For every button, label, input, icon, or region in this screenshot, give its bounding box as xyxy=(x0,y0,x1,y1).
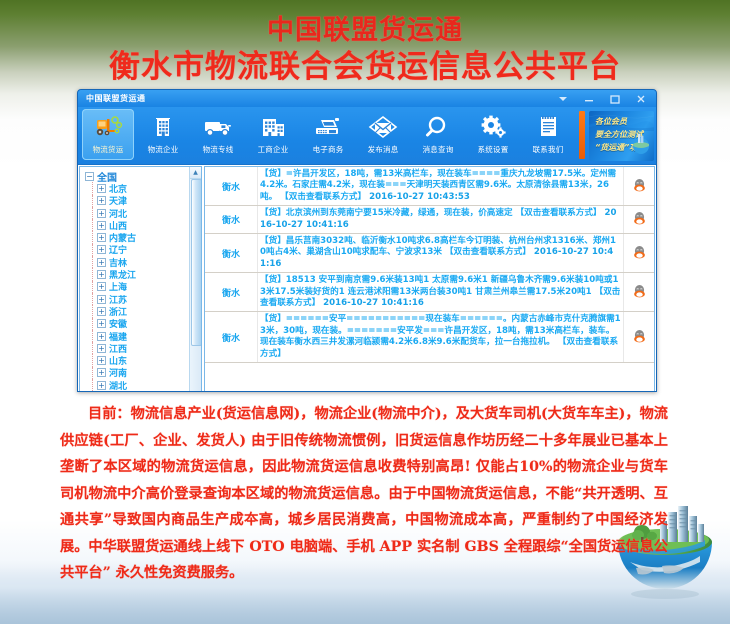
table-row[interactable]: 衡水 【货】北京滨州到东莞南宁要15米冷藏，绿通，现在装，价高速定 【双击查看联… xyxy=(205,206,654,234)
row-message-text: 【货】18513 安平到南京需9.6米装13吨1 太原需9.6米1 新疆乌鲁木齐… xyxy=(260,275,620,308)
tree-item-label: 福建 xyxy=(109,330,127,343)
toolbar-item-system-settings[interactable]: 系统设置 xyxy=(467,109,519,160)
tree-item-label: 吉林 xyxy=(109,256,127,269)
tree-item-label: 湖南 xyxy=(109,391,127,392)
toolbar-item-business-enterprise[interactable]: 工商企业 xyxy=(247,109,299,160)
building-icon xyxy=(148,112,178,142)
application-window: 中国联盟货运通 xyxy=(77,89,657,392)
expand-toggle-icon[interactable]: + xyxy=(97,196,106,205)
row-message-text: 【货】======安平===========现在装车======。内蒙古赤峰市克… xyxy=(260,314,621,358)
banner-line-1: 各位会员 xyxy=(595,115,649,128)
document-icon xyxy=(533,112,563,142)
banner-globe-icon xyxy=(631,130,651,160)
tree-item-region[interactable]: +浙江 xyxy=(85,305,201,317)
toolbar-label: 工商企业 xyxy=(258,144,289,155)
region-tree: − 全国 +北京 +天津 +河北 +山西 +内蒙古 +辽宁 +吉林 +黑龙江 +… xyxy=(80,167,201,392)
scroll-up-icon[interactable]: ▲ xyxy=(190,167,201,179)
qq-contact-icon[interactable] xyxy=(633,177,646,196)
toolbar-item-logistics-line[interactable]: 物流专线 xyxy=(192,109,244,160)
tree-item-label: 内蒙古 xyxy=(109,231,136,244)
toolbar-label: 物流专线 xyxy=(203,144,234,155)
row-action[interactable] xyxy=(624,273,655,312)
toolbar-divider xyxy=(579,111,585,159)
qq-contact-icon[interactable] xyxy=(633,328,646,347)
tree-item-region[interactable]: +内蒙古 xyxy=(85,231,201,243)
page-title-primary: 中国联盟货运通 xyxy=(0,14,730,48)
ecommerce-icon xyxy=(312,112,344,142)
qq-contact-icon[interactable] xyxy=(633,244,646,263)
row-action[interactable] xyxy=(624,234,655,273)
tree-item-region[interactable]: +山西 xyxy=(85,219,201,231)
tree-item-region[interactable]: +山东 xyxy=(85,354,201,366)
toolbar-label: 物流货运 xyxy=(93,144,124,155)
toolbar-label: 联系我们 xyxy=(533,144,564,155)
toolbar-item-ecommerce[interactable]: 电子商务 xyxy=(302,109,354,160)
row-message[interactable]: 【货】昌乐莒南3032吨、临沂衡水10吨求6.8高栏车今订明装、杭州台州求131… xyxy=(258,234,624,273)
toolbar-item-message-query[interactable]: 消息查询 xyxy=(412,109,464,160)
expand-toggle-icon[interactable]: + xyxy=(97,233,106,242)
maximize-icon[interactable] xyxy=(602,91,628,106)
tree-scrollbar[interactable]: ▲ xyxy=(189,167,201,392)
row-city: 衡水 xyxy=(205,234,258,273)
tree-item-label: 北京 xyxy=(109,182,127,195)
window-titlebar[interactable]: 中国联盟货运通 xyxy=(78,90,656,107)
dropdown-icon[interactable] xyxy=(550,91,576,106)
toolbar-label: 电子商务 xyxy=(313,144,344,155)
window-content: − 全国 +北京 +天津 +河北 +山西 +内蒙古 +辽宁 +吉林 +黑龙江 +… xyxy=(78,164,656,392)
window-title: 中国联盟货运通 xyxy=(86,93,146,104)
toolbar-item-contact-us[interactable]: 联系我们 xyxy=(522,109,574,160)
region-tree-panel[interactable]: − 全国 +北京 +天津 +河北 +山西 +内蒙古 +辽宁 +吉林 +黑龙江 +… xyxy=(79,166,202,392)
tree-item-region[interactable]: +福建 xyxy=(85,330,201,342)
tree-item-region[interactable]: +吉林 xyxy=(85,256,201,268)
expand-toggle-icon[interactable]: + xyxy=(97,356,106,365)
tree-item-region[interactable]: +黑龙江 xyxy=(85,268,201,280)
tree-item-label: 上海 xyxy=(109,280,127,293)
expand-toggle-icon[interactable]: + xyxy=(97,332,106,341)
tree-item-label: 河南 xyxy=(109,366,127,379)
expand-toggle-icon[interactable]: + xyxy=(97,381,106,390)
row-message[interactable]: 【货】=许昌开发区，18吨，需13米高栏车，现在装车====重庆九龙坡需17.5… xyxy=(258,167,624,206)
tree-item-region[interactable]: +湖北 xyxy=(85,379,201,391)
description-paragraph: 目前：物流信息产业(货运信息网)，物流企业(物流中介)，及大货车司机(大货车车主… xyxy=(60,401,668,587)
table-row[interactable]: 衡水 【货】=许昌开发区，18吨，需13米高栏车，现在装车====重庆九龙坡需1… xyxy=(205,167,654,206)
toolbar-label: 系统设置 xyxy=(478,144,509,155)
main-toolbar: 物流货运 物流企业 xyxy=(78,107,656,164)
close-icon[interactable] xyxy=(628,91,654,106)
toolbar-label: 物流企业 xyxy=(148,144,179,155)
forklift-icon xyxy=(93,112,123,142)
gear-icon xyxy=(478,112,508,142)
tree-item-label: 湖北 xyxy=(109,379,127,392)
expand-toggle-icon[interactable]: + xyxy=(97,258,106,267)
expand-toggle-icon[interactable]: + xyxy=(97,307,106,316)
row-message[interactable]: 【货】18513 安平到南京需9.6米装13吨1 太原需9.6米1 新疆乌鲁木齐… xyxy=(258,273,624,312)
scrollbar-thumb[interactable] xyxy=(191,179,202,346)
row-city: 衡水 xyxy=(205,273,258,312)
tree-item-label: 浙江 xyxy=(109,305,127,318)
toolbar-label: 发布消息 xyxy=(368,144,399,155)
tree-item-label: 江西 xyxy=(109,342,127,355)
expand-toggle-icon[interactable]: + xyxy=(97,295,106,304)
tree-item-national[interactable]: − 全国 xyxy=(85,170,201,182)
tree-item-region[interactable]: +天津 xyxy=(85,195,201,207)
tree-item-label: 辽宁 xyxy=(109,243,127,256)
freight-list-panel[interactable]: 衡水 【货】=许昌开发区，18吨，需13米高栏车，现在装车====重庆九龙坡需1… xyxy=(204,166,655,392)
expand-toggle-icon[interactable]: + xyxy=(97,319,106,328)
window-controls xyxy=(550,90,654,107)
expand-toggle-icon[interactable]: + xyxy=(97,344,106,353)
table-row[interactable]: 衡水 【货】昌乐莒南3032吨、临沂衡水10吨求6.8高栏车今订明装、杭州台州求… xyxy=(205,234,654,273)
row-city: 衡水 xyxy=(205,312,258,363)
table-row[interactable]: 衡水 【货】18513 安平到南京需9.6米装13吨1 太原需9.6米1 新疆乌… xyxy=(205,273,654,312)
row-message[interactable]: 【货】======安平===========现在装车======。内蒙古赤峰市克… xyxy=(258,312,624,363)
row-action[interactable] xyxy=(624,206,655,234)
expand-toggle-icon[interactable]: + xyxy=(97,245,106,254)
tree-item-label: 山西 xyxy=(109,219,127,232)
row-city: 衡水 xyxy=(205,206,258,234)
office-icon xyxy=(257,112,289,142)
row-message-text: 【货】北京滨州到东莞南宁要15米冷藏，绿通，现在装，价高速定 【双击查看联系方式… xyxy=(260,208,602,218)
tree-item-region[interactable]: +北京 xyxy=(85,182,201,194)
tree-item-label: 河北 xyxy=(109,207,127,220)
row-message[interactable]: 【货】北京滨州到东莞南宁要15米冷藏，绿通，现在装，价高速定 【双击查看联系方式… xyxy=(258,206,624,234)
tree-item-label: 天津 xyxy=(109,194,127,207)
tree-item-label: 黑龙江 xyxy=(109,268,136,281)
magnifier-icon xyxy=(423,112,453,142)
expand-toggle-icon[interactable]: + xyxy=(97,221,106,230)
tree-item-region[interactable]: +江西 xyxy=(85,342,201,354)
member-notice-banner[interactable]: 各位会员 要全方位测试 “货运通”功能! xyxy=(589,111,654,161)
expand-toggle-icon[interactable]: + xyxy=(97,282,106,291)
page-title-block: 中国联盟货运通 衡水市物流联合会货运信息公共平台 xyxy=(0,14,730,86)
row-action[interactable] xyxy=(624,167,655,206)
tree-item-region[interactable]: +辽宁 xyxy=(85,244,201,256)
tree-item-label: 安徽 xyxy=(109,317,127,330)
tree-item-region[interactable]: +湖南 xyxy=(85,391,201,392)
qq-contact-icon[interactable] xyxy=(633,210,646,229)
collapse-toggle-icon[interactable]: − xyxy=(85,172,94,181)
tree-item-region[interactable]: +河南 xyxy=(85,367,201,379)
expand-toggle-icon[interactable]: + xyxy=(97,368,106,377)
toolbar-label: 消息查询 xyxy=(423,144,454,155)
row-city: 衡水 xyxy=(205,167,258,206)
freight-table: 衡水 【货】=许昌开发区，18吨，需13米高栏车，现在装车====重庆九龙坡需1… xyxy=(205,167,654,363)
tree-item-label: 江苏 xyxy=(109,293,127,306)
tree-item-region[interactable]: +河北 xyxy=(85,207,201,219)
tree-item-region[interactable]: +江苏 xyxy=(85,293,201,305)
truck-icon xyxy=(202,112,234,142)
minimize-icon[interactable] xyxy=(576,91,602,106)
paragraph-text: 目前：物流信息产业(货运信息网)，物流企业(物流中介)，及大货车司机(大货车车主… xyxy=(60,406,668,581)
expand-toggle-icon[interactable]: + xyxy=(97,270,106,279)
envelope-icon xyxy=(367,112,399,142)
tree-item-region[interactable]: +安徽 xyxy=(85,318,201,330)
qq-contact-icon[interactable] xyxy=(633,283,646,302)
expand-toggle-icon[interactable]: + xyxy=(97,209,106,218)
toolbar-item-publish-message[interactable]: 发布消息 xyxy=(357,109,409,160)
tree-item-region[interactable]: +上海 xyxy=(85,281,201,293)
page-title-secondary: 衡水市物流联合会货运信息公共平台 xyxy=(0,48,730,86)
toolbar-item-logistics-enterprise[interactable]: 物流企业 xyxy=(137,109,189,160)
table-row[interactable]: 衡水 【货】======安平===========现在装车======。内蒙古赤… xyxy=(205,312,654,363)
tree-item-label: 山东 xyxy=(109,354,127,367)
toolbar-item-logistics-freight[interactable]: 物流货运 xyxy=(82,109,134,160)
row-action[interactable] xyxy=(624,312,655,363)
row-timestamp: 2016-10-27 10:41:16 xyxy=(323,298,424,308)
row-timestamp: 2016-10-27 10:43:53 xyxy=(369,192,470,202)
expand-toggle-icon[interactable]: + xyxy=(97,184,106,193)
